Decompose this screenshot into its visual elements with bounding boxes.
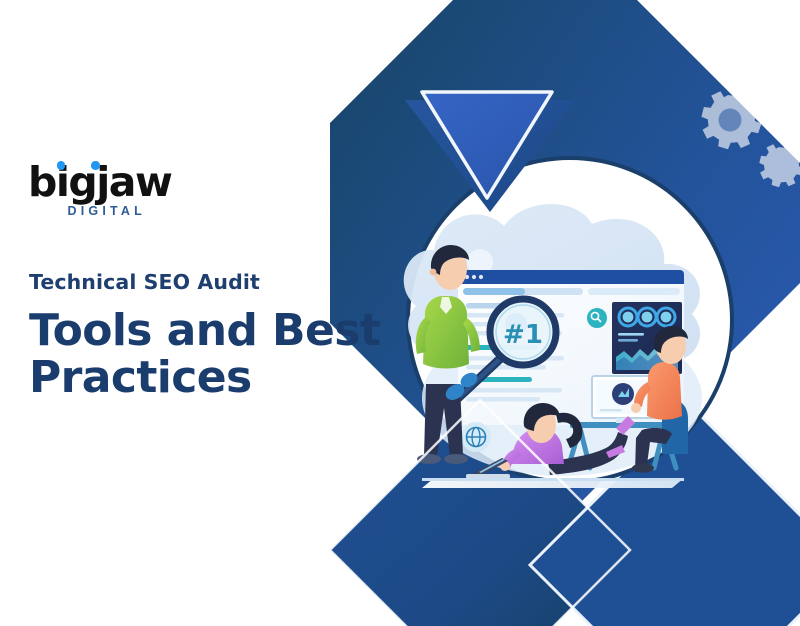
text-column: bigjaw DIGITAL Technical SEO Audit Tools… (0, 0, 400, 626)
logo-subtitle: DIGITAL (28, 204, 148, 218)
logo-wordmark-text: bigjaw (28, 158, 171, 206)
slide-canvas: #1 (0, 0, 800, 626)
magnifier-label: #1 (503, 320, 543, 350)
logo-wordmark: bigjaw (28, 162, 171, 203)
logo-dot-i-icon (57, 161, 66, 170)
eyebrow-text: Technical SEO Audit (29, 270, 260, 294)
logo-dot-j-icon (91, 161, 100, 170)
seo-audit-illustration: #1 (330, 0, 800, 626)
globe-badge-icon (461, 422, 491, 452)
brand-logo[interactable]: bigjaw DIGITAL (28, 162, 171, 218)
scene-floor (422, 478, 684, 488)
page-title: Tools and Best Practices (29, 307, 381, 401)
